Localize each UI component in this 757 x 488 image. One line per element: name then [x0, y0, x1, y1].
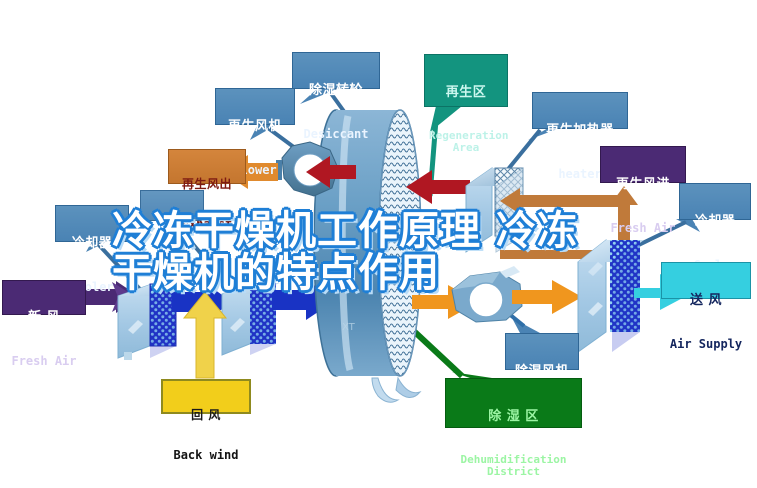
- label-regeneration-area-cn: 再生区: [425, 86, 507, 101]
- label-fresh-air-inlet-cn: 新 风: [3, 311, 85, 326]
- label-regeneration-blower[interactable]: 再生风机 Blower: [215, 88, 295, 125]
- label-regeneration-area-en: Regeneration Area: [425, 130, 507, 155]
- label-regeneration-heater-cn: 再生加热器: [533, 124, 627, 139]
- label-air-supply[interactable]: 送 风 Air Supply: [661, 262, 751, 299]
- label-back-wind[interactable]: 回 风 Back wind: [161, 379, 251, 414]
- label-regeneration-blower-cn: 再生风机: [216, 120, 294, 135]
- label-desiccant-wheel-cn: 除湿转轮: [293, 84, 379, 99]
- label-cooler-right-cn: 冷却器: [680, 215, 750, 230]
- label-exhaust[interactable]: 再生风出 Exhaust: [168, 149, 246, 184]
- label-fresh-air-inlet[interactable]: 新 风 Fresh Air: [2, 280, 86, 315]
- overlay-title-line2: 干燥机的特点作用: [112, 252, 657, 294]
- label-back-wind-en: Back wind: [163, 449, 249, 462]
- label-regeneration-fresh-air[interactable]: 再生风进 Fresh Air: [600, 146, 686, 183]
- label-dehumidification-district-cn: 除 湿 区: [446, 410, 581, 425]
- label-air-supply-cn: 送 风: [662, 294, 750, 309]
- label-regeneration-heater[interactable]: 再生加热器 heater: [532, 92, 628, 129]
- svg-text:XT: XT: [342, 322, 356, 333]
- label-fresh-air-inlet-en: Fresh Air: [3, 355, 85, 368]
- label-dehumidify-blower[interactable]: 除湿风机 Blower: [505, 333, 579, 370]
- label-regeneration-fresh-air-cn: 再生风进: [601, 178, 685, 193]
- label-dehumidification-district-en: Dehumidification District: [446, 454, 581, 479]
- label-dehumidification-district[interactable]: 除 湿 区 Dehumidification District: [445, 378, 582, 428]
- label-cooler-right[interactable]: 冷却器 Cooler: [679, 183, 751, 220]
- label-air-supply-en: Air Supply: [662, 338, 750, 351]
- label-regeneration-area[interactable]: 再生区 Regeneration Area: [424, 54, 508, 107]
- label-desiccant-wheel-en: Desiccant: [293, 128, 379, 141]
- diagram-canvas: XT: [0, 0, 757, 488]
- label-desiccant-wheel[interactable]: 除湿转轮 Desiccant: [292, 52, 380, 89]
- overlay-title-line1: 冷冻干燥机工作原理 冷冻: [112, 210, 657, 252]
- overlay-title: 冷冻干燥机工作原理 冷冻 干燥机的特点作用: [112, 210, 657, 294]
- label-back-wind-cn: 回 风: [163, 409, 249, 422]
